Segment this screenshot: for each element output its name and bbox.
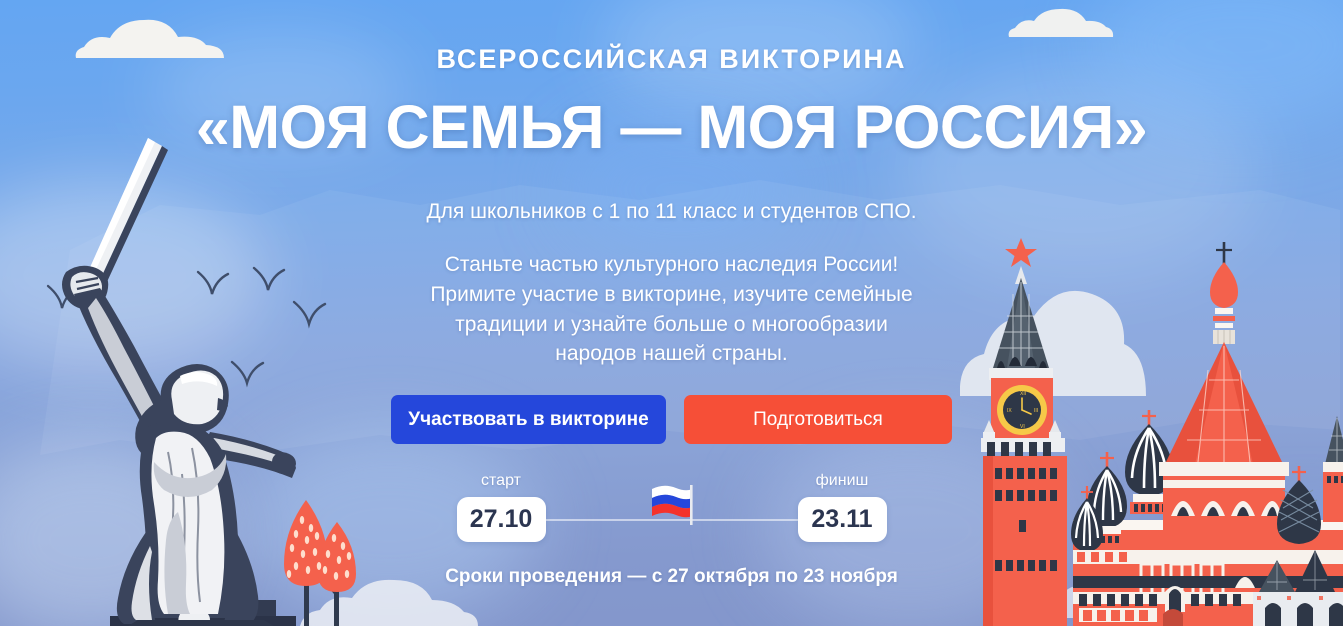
finish-date-value: 23.11 (798, 497, 887, 542)
period-note: Сроки проведения — с 27 октября по 23 но… (445, 566, 898, 588)
prepare-button[interactable]: Подготовиться (684, 395, 952, 444)
page-title: «МОЯ СЕМЬЯ — МОЯ РОССИЯ» (196, 97, 1147, 158)
hero-description-line-4: народов нашей страны. (430, 339, 912, 369)
russian-flag-icon (644, 481, 700, 532)
cta-button-row: Участвовать в викторине Подготовиться (391, 395, 952, 444)
finish-date-block: финиш 23.11 (798, 472, 887, 542)
start-date-value: 27.10 (457, 497, 546, 542)
hero-description-line-1: Станьте частью культурного наследия Росс… (430, 250, 912, 280)
start-date-label: старт (481, 472, 521, 490)
promo-banner: XIIIII VIIX (0, 0, 1343, 626)
hero-description-line-3: традиции и узнайте больше о многообразии (430, 310, 912, 340)
hero-content: ВСЕРОССИЙСКАЯ ВИКТОРИНА «МОЯ СЕМЬЯ — МОЯ… (0, 0, 1343, 626)
participate-button[interactable]: Участвовать в викторине (391, 395, 666, 444)
finish-date-label: финиш (816, 472, 869, 490)
hero-description-line-2: Примите участие в викторине, изучите сем… (430, 280, 912, 310)
date-range: старт 27.10 финиш 23.11 (457, 472, 887, 542)
start-date-block: старт 27.10 (457, 472, 546, 542)
hero-description: Станьте частью культурного наследия Росс… (430, 250, 912, 369)
hero-kicker: ВСЕРОССИЙСКАЯ ВИКТОРИНА (436, 44, 906, 75)
hero-lead: Для школьников с 1 по 11 класс и студент… (426, 200, 916, 224)
